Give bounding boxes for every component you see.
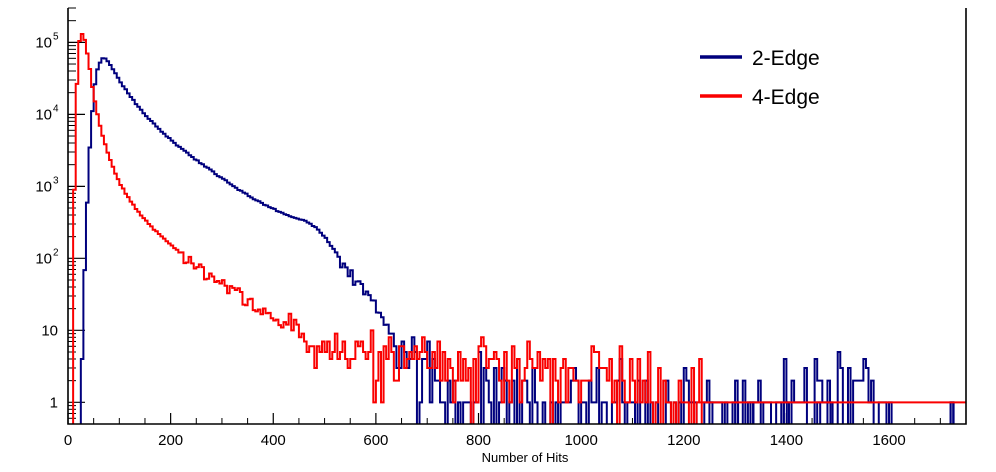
svg-text:2: 2 <box>53 247 59 258</box>
x-tick-label: 1600 <box>872 432 905 449</box>
svg-text:1: 1 <box>50 394 58 411</box>
svg-text:4: 4 <box>53 103 59 114</box>
y-tick-label: 10 <box>41 322 58 339</box>
x-tick-label: 0 <box>64 432 72 449</box>
chart-figure: 0200400600800100012001400160011010210310… <box>0 0 996 472</box>
legend-label-4-edge: 4-Edge <box>752 86 820 109</box>
svg-text:10: 10 <box>35 34 52 51</box>
plot-canvas: 0200400600800100012001400160011010210310… <box>0 0 996 472</box>
svg-text:10: 10 <box>35 106 52 123</box>
svg-text:10: 10 <box>35 250 52 267</box>
x-axis-title: Number of Hits <box>482 450 569 465</box>
x-tick-label: 400 <box>261 432 286 449</box>
svg-text:10: 10 <box>35 178 52 195</box>
x-tick-label: 800 <box>466 432 491 449</box>
x-tick-label: 1400 <box>770 432 803 449</box>
figure-background <box>0 0 996 472</box>
x-tick-label: 600 <box>363 432 388 449</box>
x-tick-label: 1000 <box>564 432 597 449</box>
svg-text:3: 3 <box>53 175 59 186</box>
x-tick-label: 1200 <box>667 432 700 449</box>
x-tick-label: 200 <box>158 432 183 449</box>
y-tick-label: 1 <box>50 394 58 411</box>
svg-text:5: 5 <box>53 31 59 42</box>
svg-text:10: 10 <box>41 322 58 339</box>
legend-label-2-edge: 2-Edge <box>752 47 820 70</box>
